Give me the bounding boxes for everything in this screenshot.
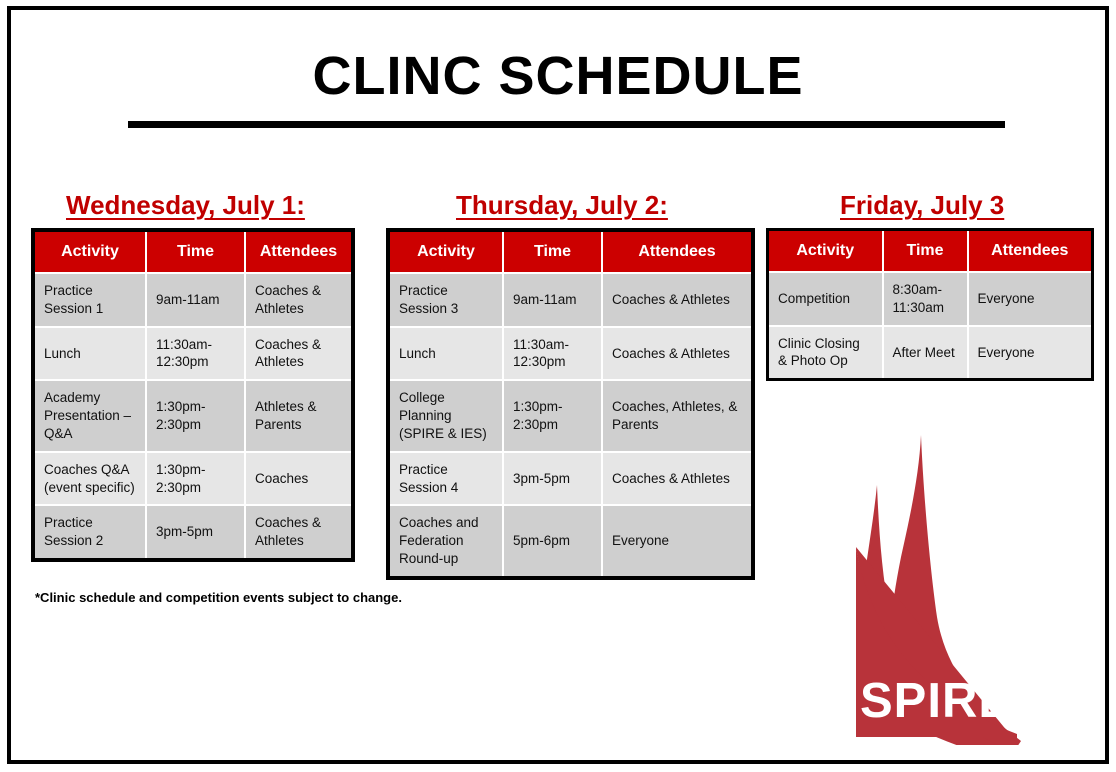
cell-attendees: Everyone xyxy=(968,326,1093,380)
title-block: CLINC SCHEDULE xyxy=(0,46,1116,106)
table-row: Coaches Q&A (event specific) 1:30pm-2:30… xyxy=(33,452,353,506)
table-header-row: Activity Time Attendees xyxy=(768,230,1093,273)
cell-attendees: Coaches & Athletes xyxy=(245,505,353,560)
column-header-activity: Activity xyxy=(768,230,883,273)
table-row: Practice Session 4 3pm-5pm Coaches & Ath… xyxy=(388,452,753,506)
table-row: Coaches and Federation Round-up 5pm-6pm … xyxy=(388,505,753,577)
cell-activity: Coaches and Federation Round-up xyxy=(388,505,503,577)
cell-time: 1:30pm-2:30pm xyxy=(146,452,245,506)
column-header-time: Time xyxy=(883,230,968,273)
cell-attendees: Everyone xyxy=(968,272,1093,326)
table-row: Practice Session 1 9am-11am Coaches & At… xyxy=(33,273,353,327)
cell-time: 11:30am-12:30pm xyxy=(503,327,602,381)
schedule-table-wednesday: Activity Time Attendees Practice Session… xyxy=(31,228,355,562)
table-row: College Planning (SPIRE & IES) 1:30pm-2:… xyxy=(388,380,753,451)
logo-wordmark: SPIRE xyxy=(857,676,1015,726)
cell-attendees: Coaches & Athletes xyxy=(245,273,353,327)
cell-activity: Academy Presentation – Q&A xyxy=(33,380,146,451)
cell-time: 1:30pm-2:30pm xyxy=(146,380,245,451)
cell-activity: Practice Session 3 xyxy=(388,273,503,327)
cell-time: 8:30am-11:30am xyxy=(883,272,968,326)
cell-activity: Competition xyxy=(768,272,883,326)
cell-time: 3pm-5pm xyxy=(503,452,602,506)
cell-time: 9am-11am xyxy=(146,273,245,327)
page-title: CLINC SCHEDULE xyxy=(0,46,1116,106)
cell-time: After Meet xyxy=(883,326,968,380)
title-underline-rule xyxy=(128,121,1005,128)
cell-activity: Practice Session 4 xyxy=(388,452,503,506)
column-header-time: Time xyxy=(146,230,245,273)
cell-attendees: Coaches, Athletes, & Parents xyxy=(602,380,753,451)
cell-time: 11:30am-12:30pm xyxy=(146,327,245,381)
cell-time: 1:30pm-2:30pm xyxy=(503,380,602,451)
cell-activity: Practice Session 2 xyxy=(33,505,146,560)
table-header-row: Activity Time Attendees xyxy=(33,230,353,273)
column-header-attendees: Attendees xyxy=(602,230,753,273)
table-row: Clinic Closing & Photo Op After Meet Eve… xyxy=(768,326,1093,380)
spire-logo: SPIRE xyxy=(845,425,1035,745)
cell-time: 5pm-6pm xyxy=(503,505,602,577)
cell-time: 3pm-5pm xyxy=(146,505,245,560)
column-header-time: Time xyxy=(503,230,602,273)
column-header-attendees: Attendees xyxy=(968,230,1093,273)
footnote-text: *Clinic schedule and competition events … xyxy=(35,590,402,605)
day-heading-friday: Friday, July 3 xyxy=(840,190,1004,221)
cell-activity: Practice Session 1 xyxy=(33,273,146,327)
cell-attendees: Coaches & Athletes xyxy=(245,327,353,381)
table-row: Lunch 11:30am-12:30pm Coaches & Athletes xyxy=(388,327,753,381)
cell-attendees: Coaches xyxy=(245,452,353,506)
table-header-row: Activity Time Attendees xyxy=(388,230,753,273)
cell-attendees: Coaches & Athletes xyxy=(602,273,753,327)
schedule-table-friday: Activity Time Attendees Competition 8:30… xyxy=(766,228,1094,381)
schedule-page: CLINC SCHEDULE Wednesday, July 1: Activi… xyxy=(0,0,1116,772)
table-row: Lunch 11:30am-12:30pm Coaches & Athletes xyxy=(33,327,353,381)
column-header-attendees: Attendees xyxy=(245,230,353,273)
table-row: Practice Session 2 3pm-5pm Coaches & Ath… xyxy=(33,505,353,560)
table-row: Competition 8:30am-11:30am Everyone xyxy=(768,272,1093,326)
column-header-activity: Activity xyxy=(33,230,146,273)
day-heading-wednesday: Wednesday, July 1: xyxy=(66,190,305,221)
cell-activity: Lunch xyxy=(388,327,503,381)
cell-activity: Lunch xyxy=(33,327,146,381)
table-row: Practice Session 3 9am-11am Coaches & At… xyxy=(388,273,753,327)
day-heading-thursday: Thursday, July 2: xyxy=(456,190,668,221)
cell-attendees: Athletes & Parents xyxy=(245,380,353,451)
table-row: Academy Presentation – Q&A 1:30pm-2:30pm… xyxy=(33,380,353,451)
cell-attendees: Coaches & Athletes xyxy=(602,327,753,381)
schedule-table-thursday: Activity Time Attendees Practice Session… xyxy=(386,228,755,580)
cell-activity: Coaches Q&A (event specific) xyxy=(33,452,146,506)
cell-activity: College Planning (SPIRE & IES) xyxy=(388,380,503,451)
cell-time: 9am-11am xyxy=(503,273,602,327)
column-header-activity: Activity xyxy=(388,230,503,273)
cell-attendees: Coaches & Athletes xyxy=(602,452,753,506)
cell-activity: Clinic Closing & Photo Op xyxy=(768,326,883,380)
cell-attendees: Everyone xyxy=(602,505,753,577)
